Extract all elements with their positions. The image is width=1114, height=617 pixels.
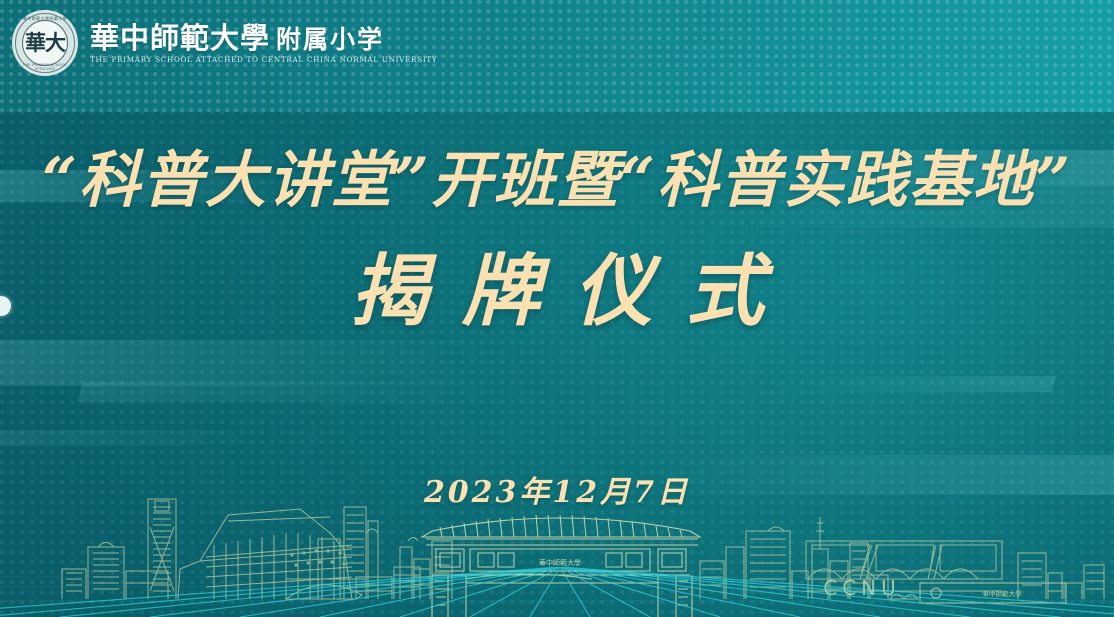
event-title-block: “科普大讲堂”开班暨“科普实践基地” 揭牌仪式 bbox=[0, 150, 1114, 331]
ground-perspective-lines bbox=[0, 567, 1114, 617]
school-name-block: 華中師範大學附属小学 THE PRIMARY SCHOOL ATTACHED T… bbox=[90, 22, 437, 64]
school-identity: 華中師範大學附屬小學 華大 THE PRIMARY SCHOOL ATTACHE… bbox=[12, 10, 437, 76]
emblem-center-glyph: 華大 bbox=[25, 34, 65, 51]
event-title-line-2: 揭牌仪式 bbox=[0, 253, 1114, 331]
event-title-line-1: “科普大讲堂”开班暨“科普实践基地” bbox=[0, 150, 1114, 211]
school-name-chinese: 華中師範大學附属小学 bbox=[90, 24, 437, 53]
decor-band-right-thin bbox=[792, 376, 1057, 392]
gate-plaque-text: 華中師範大學 bbox=[539, 558, 581, 567]
school-name-chinese-main: 華中師範大學 bbox=[90, 21, 270, 55]
decor-band-left-lower bbox=[0, 430, 272, 446]
school-name-chinese-sub: 附属小学 bbox=[276, 25, 384, 54]
school-emblem-icon: 華中師範大學附屬小學 華大 THE PRIMARY SCHOOL ATTACHE… bbox=[12, 10, 78, 76]
school-name-english: THE PRIMARY SCHOOL ATTACHED TO CENTRAL C… bbox=[90, 55, 437, 64]
emblem-arc-top-text: 華中師範大學附屬小學 bbox=[12, 16, 78, 22]
ceremony-backdrop: 華中師範大學附屬小學 華大 THE PRIMARY SCHOOL ATTACHE… bbox=[0, 0, 1114, 617]
decor-band-left-mid-thin bbox=[77, 382, 503, 402]
decor-band-left-mid bbox=[0, 340, 507, 386]
emblem-arc-bottom-text: THE PRIMARY SCHOOL ATTACHED bbox=[12, 63, 78, 71]
